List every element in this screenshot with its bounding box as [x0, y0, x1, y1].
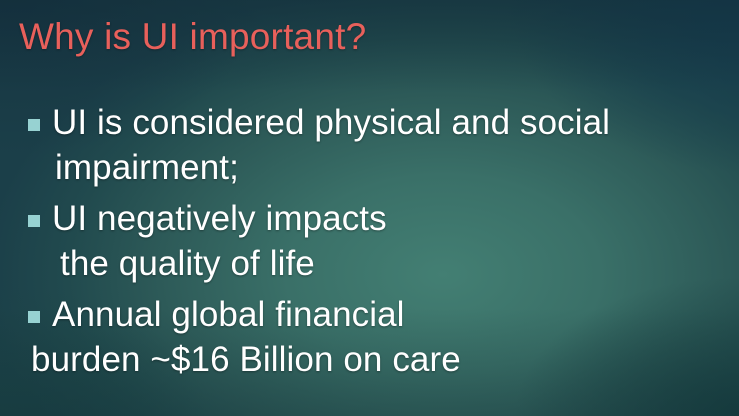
- presentation-slide: Why is UI important? UI is considered ph…: [0, 0, 739, 416]
- square-bullet-icon: [28, 215, 40, 227]
- bullet-text-line-1: UI is considered physical and social: [40, 100, 739, 145]
- bullet-item-3: Annual global financial burden ~$16 Bill…: [0, 292, 739, 382]
- bullet-row: UI negatively impacts: [0, 196, 739, 241]
- bullet-text-line-2: impairment;: [0, 145, 739, 190]
- square-bullet-icon: [28, 119, 40, 131]
- bullet-row: Annual global financial: [0, 292, 739, 337]
- slide-content: Why is UI important? UI is considered ph…: [0, 0, 739, 416]
- bullet-row: UI is considered physical and social: [0, 100, 739, 145]
- slide-title: Why is UI important?: [19, 14, 719, 60]
- bullet-text-line-2: the quality of life: [0, 241, 739, 286]
- bullet-item-2: UI negatively impacts the quality of lif…: [0, 196, 739, 286]
- slide-bullet-list: UI is considered physical and social imp…: [0, 100, 739, 382]
- bullet-item-1: UI is considered physical and social imp…: [0, 100, 739, 190]
- bullet-text-line-1: Annual global financial: [40, 292, 739, 337]
- bullet-text-line-2: burden ~$16 Billion on care: [0, 337, 739, 382]
- bullet-text-line-1: UI negatively impacts: [40, 196, 739, 241]
- square-bullet-icon: [28, 311, 40, 323]
